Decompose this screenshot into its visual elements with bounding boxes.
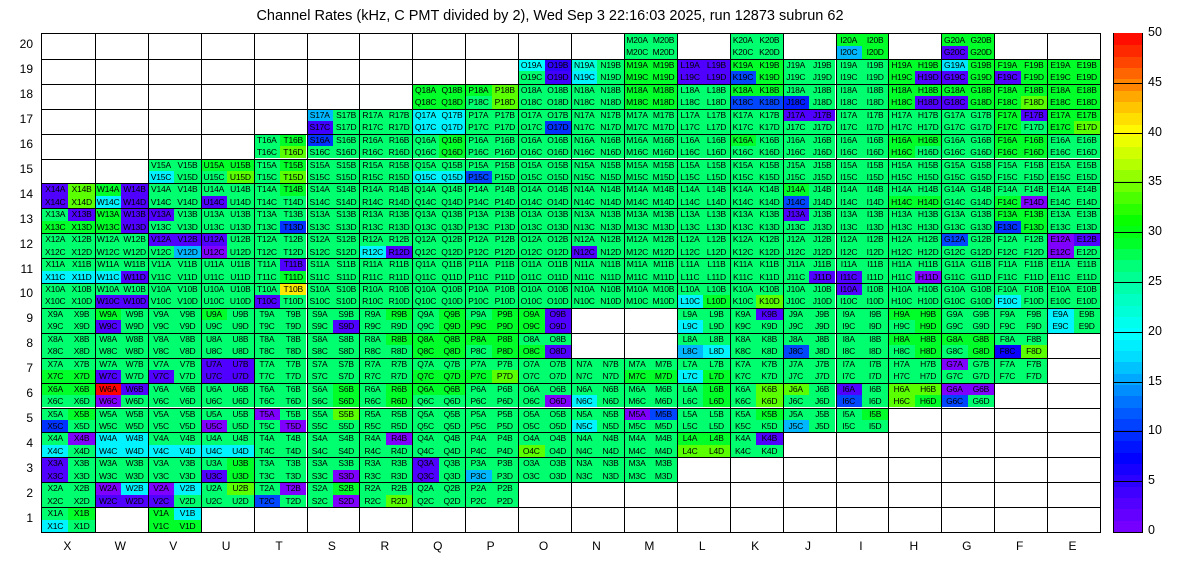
channel-M3A: M3A: [624, 457, 650, 469]
channel-S14C: S14C: [307, 196, 333, 208]
channel-E12B: E12B: [1074, 233, 1100, 245]
channel-I9A: I9A: [836, 308, 862, 320]
channel-J13B: J13B: [809, 208, 835, 220]
heatmap-cell-empty: [836, 507, 889, 532]
channel-N12C: N12C: [571, 246, 597, 258]
channel-I16B: I16B: [862, 134, 888, 146]
heatmap-cell: K6AK6BK6CK6D: [730, 383, 783, 408]
channel-E17A: E17A: [1047, 109, 1073, 121]
channel-T9B: T9B: [280, 308, 306, 320]
grid-line-horizontal: [42, 333, 1100, 334]
channel-W9B: W9B: [121, 308, 147, 320]
channel-O18B: O18B: [545, 84, 571, 96]
channel-W13B: W13B: [121, 208, 147, 220]
channel-P4C: P4C: [465, 445, 491, 457]
heatmap-cell: E19AE19BE19CE19D: [1047, 59, 1100, 84]
channel-X3D: X3D: [68, 470, 94, 482]
channel-Q12C: Q12C: [412, 246, 438, 258]
channel-R15A: R15A: [359, 159, 385, 171]
channel-M19A: M19A: [624, 59, 650, 71]
channel-O19A: O19A: [518, 59, 544, 71]
channel-H15B: H15B: [915, 159, 941, 171]
channel-M11C: M11C: [624, 271, 650, 283]
channel-V11D: V11D: [174, 271, 200, 283]
channel-M17D: M17D: [650, 121, 676, 133]
channel-X3C: X3C: [42, 470, 68, 482]
channel-J17C: J17C: [783, 121, 809, 133]
x-axis-tick-H: H: [887, 539, 940, 553]
heatmap-cell: M20AM20BM20CM20D: [624, 34, 677, 59]
channel-I18B: I18B: [862, 84, 888, 96]
channel-G13B: G13B: [968, 208, 994, 220]
channel-M16C: M16C: [624, 146, 650, 158]
channel-T7D: T7D: [280, 370, 306, 382]
channel-U6B: U6B: [227, 383, 253, 395]
channel-I16C: I16C: [836, 146, 862, 158]
channel-I19A: I19A: [836, 59, 862, 71]
channel-R10D: R10D: [386, 295, 412, 307]
channel-K18B: K18B: [756, 84, 782, 96]
heatmap-cell: W9AW9BW9CW9D: [95, 308, 148, 333]
channel-T2B: T2B: [280, 482, 306, 494]
channel-F18A: F18A: [994, 84, 1020, 96]
channel-N13A: N13A: [571, 208, 597, 220]
channel-H6C: H6C: [888, 395, 914, 407]
channel-R15B: R15B: [386, 159, 412, 171]
channel-R14B: R14B: [386, 183, 412, 195]
channel-S12B: S12B: [333, 233, 359, 245]
channel-I12A: I12A: [836, 233, 862, 245]
channel-G12A: G12A: [941, 233, 967, 245]
heatmap-cell: L16AL16BL16CL16D: [677, 134, 730, 159]
channel-E15A: E15A: [1047, 159, 1073, 171]
heatmap-cell-empty: [836, 432, 889, 457]
channel-G15B: G15B: [968, 159, 994, 171]
channel-R6B: R6B: [386, 383, 412, 395]
channel-P16C: P16C: [465, 146, 491, 158]
heatmap-cell: P8AP8BP8CP8D: [465, 333, 518, 358]
channel-M13D: M13D: [650, 221, 676, 233]
channel-V6B: V6B: [174, 383, 200, 395]
channel-S13C: S13C: [307, 221, 333, 233]
heatmap-cell: N4AN4BN4CN4D: [571, 432, 624, 457]
channel-Q16D: Q16D: [439, 146, 465, 158]
channel-I11A: I11A: [836, 258, 862, 270]
heatmap-cell-empty: [42, 159, 95, 184]
channel-N18D: N18D: [597, 96, 623, 108]
channel-S9C: S9C: [307, 320, 333, 332]
channel-E16C: E16C: [1047, 146, 1073, 158]
heatmap-cell: L19AL19BL19CL19D: [677, 59, 730, 84]
channel-N10D: N10D: [597, 295, 623, 307]
channel-X10D: X10D: [68, 295, 94, 307]
heatmap-cell: P6AP6BP6CP6D: [465, 383, 518, 408]
channel-H12C: H12C: [888, 246, 914, 258]
channel-K19C: K19C: [730, 71, 756, 83]
channel-M19C: M19C: [624, 71, 650, 83]
channel-P11B: P11B: [492, 258, 518, 270]
channel-J16C: J16C: [783, 146, 809, 158]
channel-W13C: W13C: [95, 221, 121, 233]
channel-T16C: T16C: [254, 146, 280, 158]
channel-W6D: W6D: [121, 395, 147, 407]
colorbar-tick-label-10: 10: [1148, 423, 1162, 437]
channel-W5B: W5B: [121, 408, 147, 420]
heatmap-cell-empty: [677, 507, 730, 532]
channel-I8B: I8B: [862, 333, 888, 345]
channel-Q12D: Q12D: [439, 246, 465, 258]
heatmap-cell: T5AT5BT5CT5D: [254, 408, 307, 433]
channel-M10D: M10D: [650, 295, 676, 307]
channel-S15B: S15B: [333, 159, 359, 171]
channel-K5A: K5A: [730, 408, 756, 420]
channel-Q12B: Q12B: [439, 233, 465, 245]
channel-N16B: N16B: [597, 134, 623, 146]
channel-R3D: R3D: [386, 470, 412, 482]
colorbar-segment: [1114, 316, 1142, 328]
channel-O16C: O16C: [518, 146, 544, 158]
channel-I19C: I19C: [836, 71, 862, 83]
heatmap-cell: M18AM18BM18CM18D: [624, 84, 677, 109]
channel-I5C: I5C: [836, 420, 862, 432]
channel-E11A: E11A: [1047, 258, 1073, 270]
channel-R4A: R4A: [359, 432, 385, 444]
channel-H14B: H14B: [915, 183, 941, 195]
heatmap-cell: E11AE11BE11CE11D: [1047, 258, 1100, 283]
channel-J8B: J8B: [809, 333, 835, 345]
channel-E13B: E13B: [1074, 208, 1100, 220]
channel-I13A: I13A: [836, 208, 862, 220]
channel-I14B: I14B: [862, 183, 888, 195]
channel-W7D: W7D: [121, 370, 147, 382]
channel-O13C: O13C: [518, 221, 544, 233]
channel-W12D: W12D: [121, 246, 147, 258]
channel-P17B: P17B: [492, 109, 518, 121]
channel-I14C: I14C: [836, 196, 862, 208]
channel-L14D: L14D: [703, 196, 729, 208]
heatmap-cell: H7AH7BH7CH7D: [888, 358, 941, 383]
channel-U8A: U8A: [201, 333, 227, 345]
channel-N5D: N5D: [597, 420, 623, 432]
channel-T8A: T8A: [254, 333, 280, 345]
channel-O6C: O6C: [518, 395, 544, 407]
heatmap-cell: S13AS13BS13CS13D: [307, 208, 360, 233]
channel-J16B: J16B: [809, 134, 835, 146]
channel-M3D: M3D: [650, 470, 676, 482]
heatmap-cell: P9AP9BP9CP9D: [465, 308, 518, 333]
channel-J7A: J7A: [783, 358, 809, 370]
channel-H8D: H8D: [915, 345, 941, 357]
channel-T8B: T8B: [280, 333, 306, 345]
heatmap-cell: T4AT4BT4CT4D: [254, 432, 307, 457]
channel-H11D: H11D: [915, 271, 941, 283]
channel-X11B: X11B: [68, 258, 94, 270]
channel-L4C: L4C: [677, 445, 703, 457]
channel-R5D: R5D: [386, 420, 412, 432]
channel-R4B: R4B: [386, 432, 412, 444]
channel-J11C: J11C: [783, 271, 809, 283]
channel-J11B: J11B: [809, 258, 835, 270]
channel-Q4A: Q4A: [412, 432, 438, 444]
heatmap-cell: Q13AQ13BQ13CQ13D: [412, 208, 465, 233]
heatmap-cell-empty: [994, 507, 1047, 532]
channel-J10B: J10B: [809, 283, 835, 295]
channel-H10B: H10B: [915, 283, 941, 295]
channel-J5C: J5C: [783, 420, 809, 432]
heatmap-cell-empty: [42, 59, 95, 84]
channel-O18A: O18A: [518, 84, 544, 96]
channel-O16A: O16A: [518, 134, 544, 146]
channel-R15D: R15D: [386, 171, 412, 183]
channel-X12C: X12C: [42, 246, 68, 258]
heatmap-cell: E13AE13BE13CE13D: [1047, 208, 1100, 233]
channel-M20C: M20C: [624, 46, 650, 58]
channel-X12B: X12B: [68, 233, 94, 245]
channel-X5D: X5D: [68, 420, 94, 432]
channel-O7B: O7B: [545, 358, 571, 370]
channel-I9C: I9C: [836, 320, 862, 332]
channel-N15D: N15D: [597, 171, 623, 183]
channel-T16D: T16D: [280, 146, 306, 158]
channel-G15D: G15D: [968, 171, 994, 183]
channel-U5D: U5D: [227, 420, 253, 432]
channel-G9A: G9A: [941, 308, 967, 320]
colorbar-segment: [1114, 203, 1142, 215]
colorbar-tick-label-35: 35: [1148, 174, 1162, 188]
heatmap-cell: I5AI5BI5CI5D: [836, 408, 889, 433]
heatmap-cell-empty: [42, 134, 95, 159]
channel-R7D: R7D: [386, 370, 412, 382]
heatmap-cell: N19AN19BN19CN19D: [571, 59, 624, 84]
channel-N14A: N14A: [571, 183, 597, 195]
channel-M3B: M3B: [650, 457, 676, 469]
channel-V12D: V12D: [174, 246, 200, 258]
colorbar-segment: [1114, 124, 1142, 136]
channel-S10A: S10A: [307, 283, 333, 295]
heatmap-cell: R7AR7BR7CR7D: [359, 358, 412, 383]
heatmap-cell-empty: [95, 84, 148, 109]
channel-L13C: L13C: [677, 221, 703, 233]
heatmap-cell: P17AP17BP17CP17D: [465, 109, 518, 134]
channel-X7C: X7C: [42, 370, 68, 382]
channel-R10C: R10C: [359, 295, 385, 307]
channel-V14B: V14B: [174, 183, 200, 195]
channel-N10B: N10B: [597, 283, 623, 295]
channel-Q10D: Q10D: [439, 295, 465, 307]
heatmap-cell: S2AS2BS2CS2D: [307, 482, 360, 507]
channel-R6C: R6C: [359, 395, 385, 407]
channel-R16C: R16C: [359, 146, 385, 158]
channel-O11C: O11C: [518, 271, 544, 283]
channel-J12C: J12C: [783, 246, 809, 258]
heatmap-cell: P7AP7BP7CP7D: [465, 358, 518, 383]
channel-E18D: E18D: [1074, 96, 1100, 108]
heatmap-cell-empty: [254, 84, 307, 109]
channel-R11B: R11B: [386, 258, 412, 270]
heatmap-cell: J13AJ13BJ13CJ13D: [783, 208, 836, 233]
heatmap-cell-empty: [888, 457, 941, 482]
channel-J6C: J6C: [783, 395, 809, 407]
channel-I15B: I15B: [862, 159, 888, 171]
channel-S15A: S15A: [307, 159, 333, 171]
channel-X3B: X3B: [68, 457, 94, 469]
channel-W5A: W5A: [95, 408, 121, 420]
channel-H11C: H11C: [888, 271, 914, 283]
channel-S11D: S11D: [333, 271, 359, 283]
channel-N19C: N19C: [571, 71, 597, 83]
channel-P7B: P7B: [492, 358, 518, 370]
channel-G17B: G17B: [968, 109, 994, 121]
channel-Q11B: Q11B: [439, 258, 465, 270]
channel-V11C: V11C: [148, 271, 174, 283]
channel-U3C: U3C: [201, 470, 227, 482]
channel-Q10C: Q10C: [412, 295, 438, 307]
channel-W3B: W3B: [121, 457, 147, 469]
channel-J11D: J11D: [809, 271, 835, 283]
channel-Q4C: Q4C: [412, 445, 438, 457]
channel-X9C: X9C: [42, 320, 68, 332]
heatmap-cell: K17AK17BK17CK17D: [730, 109, 783, 134]
channel-L10C: L10C: [677, 295, 703, 307]
heatmap-cell-empty: [1047, 507, 1100, 532]
heatmap-cell: T10AT10BT10CT10D: [254, 283, 307, 308]
heatmap-cell-empty: [624, 308, 677, 333]
channel-W12B: W12B: [121, 233, 147, 245]
channel-K12D: K12D: [756, 246, 782, 258]
heatmap-cell: L14AL14BL14CL14D: [677, 183, 730, 208]
channel-K10C: K10C: [730, 295, 756, 307]
channel-Q14A: Q14A: [412, 183, 438, 195]
channel-R4C: R4C: [359, 445, 385, 457]
heatmap-cell: Q3AQ3BQ3CQ3D: [412, 457, 465, 482]
channel-O16D: O16D: [545, 146, 571, 158]
heatmap-cell: I14AI14BI14CI14D: [836, 183, 889, 208]
channel-M16B: M16B: [650, 134, 676, 146]
channel-R12B: R12B: [386, 233, 412, 245]
heatmap-cell-empty: [95, 109, 148, 134]
channel-J19C: J19C: [783, 71, 809, 83]
channel-O14C: O14C: [518, 196, 544, 208]
heatmap-cell-empty: [201, 84, 254, 109]
channel-G14A: G14A: [941, 183, 967, 195]
channel-J8C: J8C: [783, 345, 809, 357]
colorbar-segment: [1114, 169, 1142, 181]
y-axis-tick-5: 5: [0, 411, 33, 425]
channel-X12D: X12D: [68, 246, 94, 258]
channel-P8B: P8B: [492, 333, 518, 345]
channel-P5D: P5D: [492, 420, 518, 432]
heatmap-cell: M7AM7BM7CM7D: [624, 358, 677, 383]
channel-R17C: R17C: [359, 121, 385, 133]
channel-R11C: R11C: [359, 271, 385, 283]
channel-G16C: G16C: [941, 146, 967, 158]
channel-M17C: M17C: [624, 121, 650, 133]
heatmap-cell-empty: [148, 34, 201, 59]
channel-J15A: J15A: [783, 159, 809, 171]
channel-G17A: G17A: [941, 109, 967, 121]
channel-P16B: P16B: [492, 134, 518, 146]
channel-K12C: K12C: [730, 246, 756, 258]
channel-T11A: T11A: [254, 258, 280, 270]
grid-line-horizontal: [42, 283, 1100, 284]
channel-U7C: U7C: [201, 370, 227, 382]
channel-I13B: I13B: [862, 208, 888, 220]
channel-U9C: U9C: [201, 320, 227, 332]
heatmap-cell: O17AO17BO17CO17D: [518, 109, 571, 134]
channel-U8D: U8D: [227, 345, 253, 357]
channel-T4A: T4A: [254, 432, 280, 444]
channel-H7B: H7B: [915, 358, 941, 370]
channel-F13C: F13C: [994, 221, 1020, 233]
heatmap-cell-empty: [994, 408, 1047, 433]
heatmap-cell: O8AO8BO8CO8D: [518, 333, 571, 358]
heatmap-cell: X2AX2BX2CX2D: [42, 482, 95, 507]
channel-N5A: N5A: [571, 408, 597, 420]
channel-U6D: U6D: [227, 395, 253, 407]
heatmap-cell: O15AO15BO15CO15D: [518, 159, 571, 184]
channel-O4A: O4A: [518, 432, 544, 444]
grid-line-horizontal: [42, 507, 1100, 508]
channel-S6D: S6D: [333, 395, 359, 407]
heatmap-cell-empty: [571, 34, 624, 59]
channel-J17B: J17B: [809, 109, 835, 121]
channel-E16B: E16B: [1074, 134, 1100, 146]
channel-J13D: J13D: [809, 221, 835, 233]
channel-R8C: R8C: [359, 345, 385, 357]
y-axis-tick-2: 2: [0, 486, 33, 500]
channel-V4C: V4C: [148, 445, 174, 457]
y-axis-tick-18: 18: [0, 87, 33, 101]
channel-K9B: K9B: [756, 308, 782, 320]
heatmap-cell-empty: [888, 482, 941, 507]
colorbar-tick: [1113, 382, 1143, 383]
channel-U12B: U12B: [227, 233, 253, 245]
channel-M15A: M15A: [624, 159, 650, 171]
heatmap-cell: J19AJ19BJ19CJ19D: [783, 59, 836, 84]
channel-P17C: P17C: [465, 121, 491, 133]
y-axis-tick-10: 10: [0, 286, 33, 300]
heatmap-cell: T11AT11BT11CT11D: [254, 258, 307, 283]
channel-E11B: E11B: [1074, 258, 1100, 270]
channel-S3A: S3A: [307, 457, 333, 469]
channel-G12B: G12B: [968, 233, 994, 245]
channel-V2C: V2C: [148, 495, 174, 507]
heatmap-cell: M19AM19BM19CM19D: [624, 59, 677, 84]
channel-H8C: H8C: [888, 345, 914, 357]
channel-G17D: G17D: [968, 121, 994, 133]
channel-E17D: E17D: [1074, 121, 1100, 133]
channel-X13C: X13C: [42, 221, 68, 233]
heatmap-cell: H19AH19BH19CH19D: [888, 59, 941, 84]
channel-X8B: X8B: [68, 333, 94, 345]
channel-G20B: G20B: [968, 34, 994, 46]
channel-E10A: E10A: [1047, 283, 1073, 295]
channel-P13C: P13C: [465, 221, 491, 233]
channel-K9A: K9A: [730, 308, 756, 320]
channel-J10A: J10A: [783, 283, 809, 295]
heatmap-cell: Q14AQ14BQ14CQ14D: [412, 183, 465, 208]
channel-F11D: F11D: [1021, 271, 1047, 283]
heatmap-cell: V13AV13BV13CV13D: [148, 208, 201, 233]
heatmap-cell: F10AF10BF10CF10D: [994, 283, 1047, 308]
channel-N15C: N15C: [571, 171, 597, 183]
channel-Q6B: Q6B: [439, 383, 465, 395]
heatmap-cell: O7AO7BO7CO7D: [518, 358, 571, 383]
heatmap-cell: V14AV14BV14CV14D: [148, 183, 201, 208]
channel-N3C: N3C: [571, 470, 597, 482]
channel-R17D: R17D: [386, 121, 412, 133]
heatmap-cell-empty: [148, 134, 201, 159]
